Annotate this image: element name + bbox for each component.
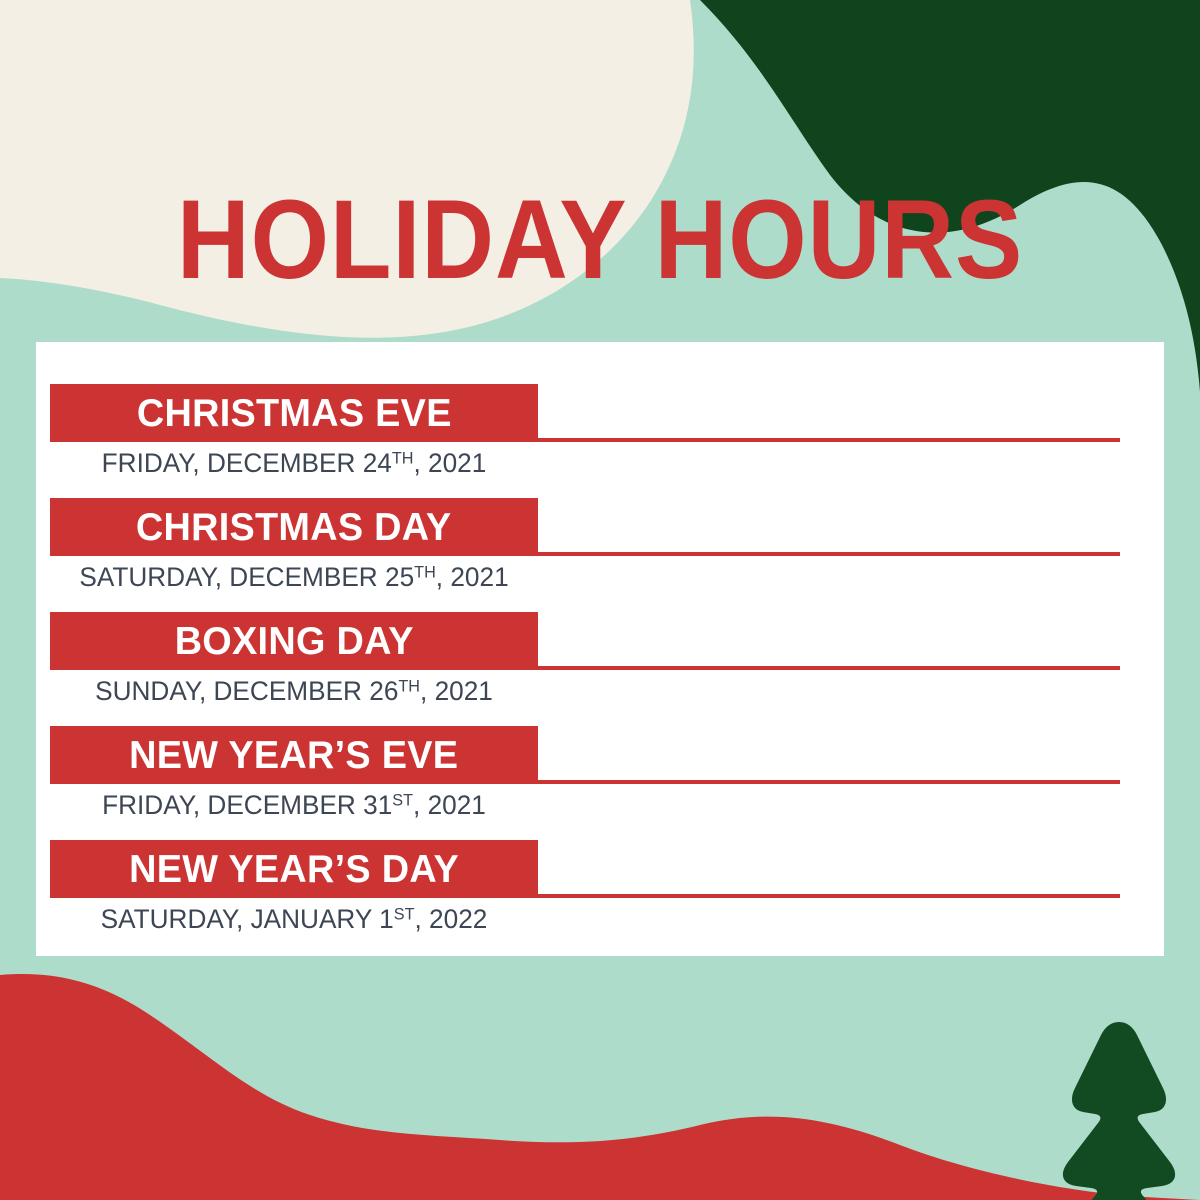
holiday-hours-poster: HOLIDAY HOURS CHRISTMAS EVE FRIDAY, DECE… (0, 0, 1200, 1200)
table-row: NEW YEAR’S DAY SATURDAY, JANUARY 1ST, 20… (36, 840, 1164, 954)
holiday-date-weekday: FRIDAY, (102, 448, 200, 478)
hours-rule (538, 666, 1120, 670)
holiday-date-year: 2022 (429, 904, 487, 934)
holiday-date-weekday: SATURDAY, (79, 562, 222, 592)
holiday-date-month: DECEMBER (207, 790, 355, 820)
hours-rule (538, 780, 1120, 784)
holiday-date-day: 1 (379, 904, 394, 934)
holiday-date-month: DECEMBER (229, 562, 377, 592)
holiday-date-weekday: FRIDAY, (102, 790, 200, 820)
page-title: HOLIDAY HOURS (60, 188, 1140, 292)
holiday-date: SATURDAY, DECEMBER 25TH, 2021 (57, 560, 530, 594)
holiday-date-ordinal: ST (394, 904, 415, 923)
holiday-date-year: 2021 (428, 790, 486, 820)
holiday-date-ordinal: ST (392, 790, 413, 809)
holiday-date-ordinal: TH (414, 562, 436, 581)
hours-rule (538, 552, 1120, 556)
holiday-date: FRIDAY, DECEMBER 24TH, 2021 (57, 446, 530, 480)
holiday-date-year: 2021 (450, 562, 508, 592)
schedule-rows: CHRISTMAS EVE FRIDAY, DECEMBER 24TH, 202… (36, 342, 1164, 956)
holiday-date-day: 25 (385, 562, 414, 592)
table-row: CHRISTMAS EVE FRIDAY, DECEMBER 24TH, 202… (36, 384, 1164, 498)
holiday-date: SUNDAY, DECEMBER 26TH, 2021 (57, 674, 530, 708)
holiday-date-month: JANUARY (251, 904, 372, 934)
hours-rule (538, 894, 1120, 898)
table-row: CHRISTMAS DAY SATURDAY, DECEMBER 25TH, 2… (36, 498, 1164, 612)
holiday-date-month: DECEMBER (207, 448, 355, 478)
holiday-name-band: NEW YEAR’S EVE (50, 726, 538, 784)
holiday-date-weekday: SUNDAY, (95, 676, 206, 706)
holiday-name-band: CHRISTMAS DAY (50, 498, 538, 556)
holiday-date-ordinal: TH (398, 676, 420, 695)
hours-rule (538, 438, 1120, 442)
holiday-name-label: BOXING DAY (174, 622, 413, 661)
holiday-date-day: 31 (363, 790, 392, 820)
schedule-card: CHRISTMAS EVE FRIDAY, DECEMBER 24TH, 202… (36, 342, 1164, 956)
holiday-name-band: CHRISTMAS EVE (50, 384, 538, 442)
holiday-date-day: 26 (369, 676, 398, 706)
holiday-name-band: BOXING DAY (50, 612, 538, 670)
holiday-date-year: 2021 (428, 448, 486, 478)
holiday-name-label: NEW YEAR’S DAY (129, 850, 459, 889)
table-row: BOXING DAY SUNDAY, DECEMBER 26TH, 2021 (36, 612, 1164, 726)
table-row: NEW YEAR’S EVE FRIDAY, DECEMBER 31ST, 20… (36, 726, 1164, 840)
holiday-date-weekday: SATURDAY, (101, 904, 244, 934)
holiday-date-month: DECEMBER (214, 676, 362, 706)
holiday-date-day: 24 (363, 448, 392, 478)
holiday-name-label: NEW YEAR’S EVE (129, 736, 458, 775)
holiday-date-ordinal: TH (392, 448, 414, 467)
holiday-name-label: CHRISTMAS EVE (137, 394, 452, 433)
holiday-name-label: CHRISTMAS DAY (136, 508, 452, 547)
holiday-date: SATURDAY, JANUARY 1ST, 2022 (57, 902, 530, 936)
holiday-date-year: 2021 (435, 676, 493, 706)
holiday-date: FRIDAY, DECEMBER 31ST, 2021 (57, 788, 530, 822)
holiday-name-band: NEW YEAR’S DAY (50, 840, 538, 898)
